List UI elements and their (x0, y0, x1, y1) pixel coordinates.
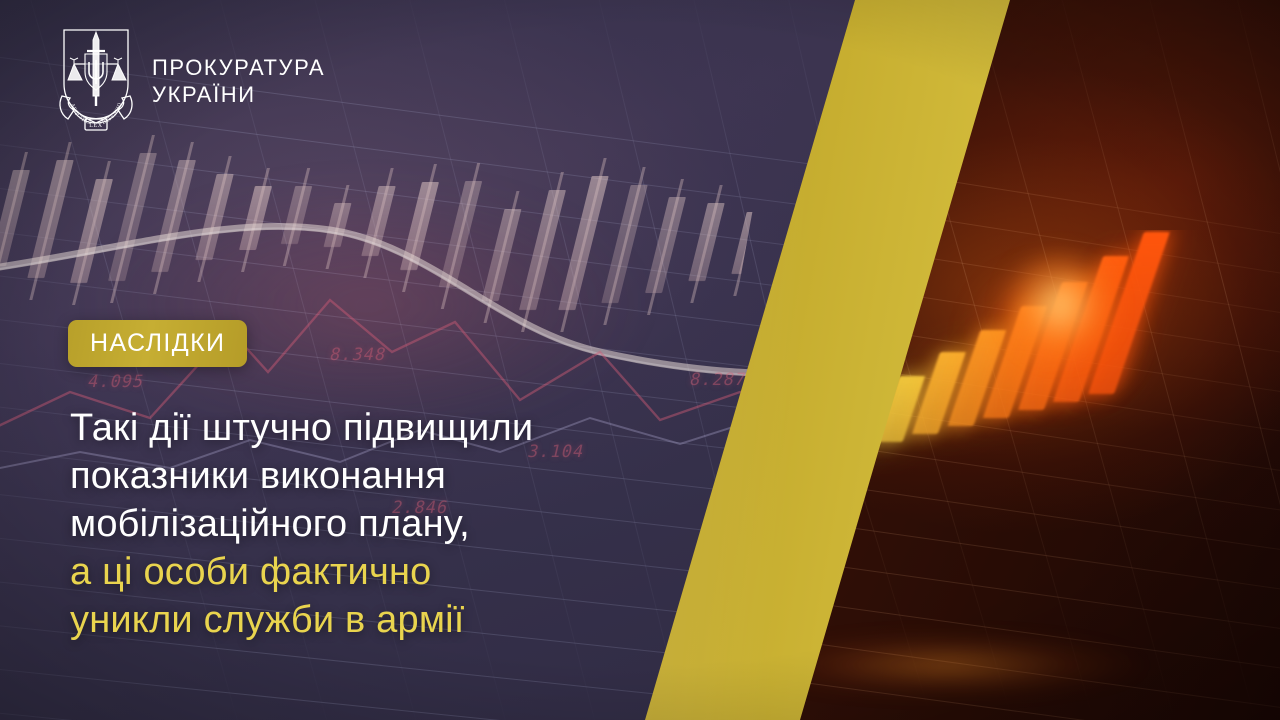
headline-line-4: а ці особи фактично (70, 548, 750, 596)
logo-text: ПРОКУРАТУРА УКРАЇНИ (152, 54, 325, 108)
headline-text-block: Такі дії штучно підвищилипоказники викон… (70, 404, 750, 644)
logo-line-1: ПРОКУРАТУРА (152, 54, 325, 81)
ghost-number: 8.348 (328, 345, 389, 365)
bottom-orange-streak (800, 620, 1220, 710)
svg-text:LEX: LEX (89, 123, 103, 129)
prosecutor-logo: LEX AEQUITAS DEFENSIO ПРОКУРАТУРА УКРАЇН… (56, 24, 325, 138)
headline-line-3: мобілізаційного плану, (70, 500, 750, 548)
svg-text:AEQUITAS: AEQUITAS (69, 103, 92, 127)
headline-line-5: уникли служби в армії (70, 596, 750, 644)
status-badge: НАСЛІДКИ (68, 320, 247, 367)
ghost-number: 8.287 (688, 370, 749, 390)
status-badge-label: НАСЛІДКИ (90, 329, 225, 358)
orange-glow-core (1000, 250, 1120, 360)
prosecutor-shield-emblem-icon: LEX AEQUITAS DEFENSIO (56, 24, 136, 138)
headline-line-2: показники виконання (70, 452, 750, 500)
infographic-slide: 8.3488.2873.1044.0952.846 (0, 0, 1280, 720)
logo-line-2: УКРАЇНИ (152, 81, 325, 108)
grid-line (1228, 0, 1280, 720)
ghost-number: 4.095 (86, 372, 147, 392)
headline-line-1: Такі дії штучно підвищили (70, 404, 750, 452)
